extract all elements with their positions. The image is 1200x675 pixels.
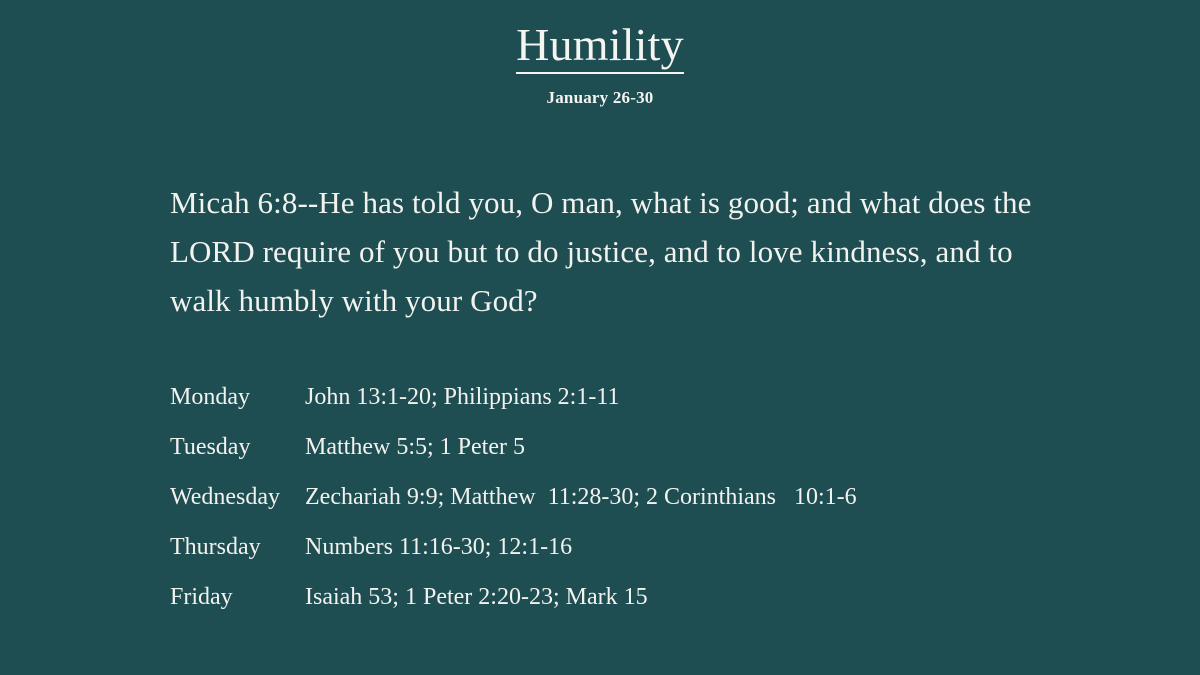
reading-text-friday: Isaiah 53; 1 Peter 2:20-23; Mark 15 [305, 580, 1150, 614]
reading-text-tuesday: Matthew 5:5; 1 Peter 5 [305, 430, 1150, 464]
day-label-monday: Monday [170, 380, 305, 414]
reading-text-monday: John 13:1-20; Philippians 2:1-11 [305, 380, 1150, 414]
slide: Humility January 26-30 Micah 6:8--He has… [0, 0, 1200, 675]
schedule-row: Wednesday Zechariah 9:9; Matthew 11:28-3… [170, 480, 1150, 530]
page-title: Humility [516, 20, 684, 74]
schedule-row: Tuesday Matthew 5:5; 1 Peter 5 [170, 430, 1150, 480]
reading-text-thursday: Numbers 11:16-30; 12:1-16 [305, 530, 1150, 564]
day-label-friday: Friday [170, 580, 305, 614]
weekly-reading-schedule: Monday John 13:1-20; Philippians 2:1-11 … [170, 380, 1150, 630]
day-label-wednesday: Wednesday [170, 480, 305, 514]
schedule-row: Friday Isaiah 53; 1 Peter 2:20-23; Mark … [170, 580, 1150, 630]
scripture-verse-text: Micah 6:8--He has told you, O man, what … [170, 178, 1070, 325]
date-range-subtitle: January 26-30 [0, 88, 1200, 108]
title-block: Humility January 26-30 [0, 20, 1200, 108]
day-label-tuesday: Tuesday [170, 430, 305, 464]
schedule-row: Monday John 13:1-20; Philippians 2:1-11 [170, 380, 1150, 430]
reading-text-wednesday: Zechariah 9:9; Matthew 11:28-30; 2 Corin… [305, 480, 1150, 514]
day-label-thursday: Thursday [170, 530, 305, 564]
verse-block: Micah 6:8--He has told you, O man, what … [170, 178, 1070, 325]
schedule-row: Thursday Numbers 11:16-30; 12:1-16 [170, 530, 1150, 580]
